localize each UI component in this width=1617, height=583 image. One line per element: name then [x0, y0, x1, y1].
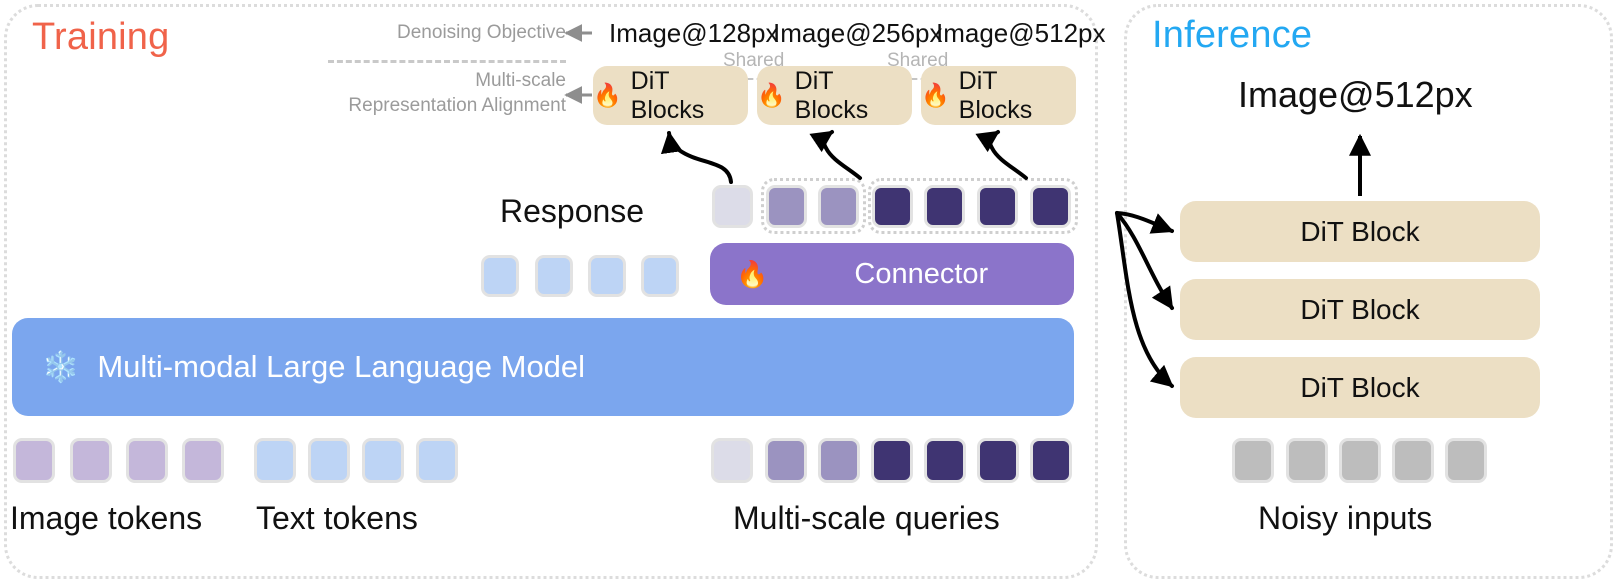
training-panel-title: Training: [32, 16, 169, 59]
query-token-7[interactable]: [1030, 438, 1072, 483]
noisy-token-1[interactable]: [1232, 438, 1274, 483]
notes-divider: [328, 60, 566, 63]
connector-label: Connector: [854, 258, 988, 291]
scale-label-128: Image@128px: [609, 18, 779, 49]
response-token-7[interactable]: [1030, 185, 1071, 228]
image-token-2[interactable]: [70, 438, 112, 483]
response-token-5[interactable]: [924, 185, 965, 228]
mllm-label: Multi-modal Large Language Model: [97, 349, 585, 385]
text-token-1[interactable]: [254, 438, 296, 483]
response-token-1[interactable]: [712, 185, 753, 228]
response-token-3[interactable]: [818, 185, 859, 228]
snowflake-emoji: ❄️: [42, 350, 79, 385]
query-token-5[interactable]: [924, 438, 966, 483]
dit-blocks-128-label: DiT Blocks: [631, 67, 748, 125]
dit-blocks-256-label: DiT Blocks: [795, 67, 912, 125]
noisy-token-4[interactable]: [1392, 438, 1434, 483]
representation-alignment-label: Representation Alignment: [326, 95, 566, 117]
inference-dit-block-2-label: DiT Block: [1300, 294, 1419, 326]
multi-scale-queries-caption: Multi-scale queries: [733, 500, 1000, 537]
denoising-objective-label: Denoising Objective: [386, 22, 566, 44]
scale-label-512: Image@512px: [936, 18, 1106, 49]
response-text-token-3[interactable]: [588, 255, 626, 297]
inference-dit-block-1[interactable]: DiT Block: [1180, 201, 1540, 262]
noisy-token-3[interactable]: [1339, 438, 1381, 483]
dit-blocks-512[interactable]: 🔥 DiT Blocks: [921, 66, 1076, 125]
connector-bar[interactable]: 🔥 Connector: [710, 243, 1074, 305]
inference-dit-block-2[interactable]: DiT Block: [1180, 279, 1540, 340]
response-text-token-2[interactable]: [535, 255, 573, 297]
query-token-1[interactable]: [711, 438, 753, 483]
text-token-3[interactable]: [362, 438, 404, 483]
image-token-3[interactable]: [126, 438, 168, 483]
inference-panel-title: Inference: [1152, 14, 1312, 57]
mllm-bar[interactable]: ❄️ Multi-modal Large Language Model: [12, 318, 1074, 416]
noisy-token-2[interactable]: [1286, 438, 1328, 483]
inference-output-label: Image@512px: [1238, 74, 1473, 116]
response-text-token-4[interactable]: [641, 255, 679, 297]
image-token-4[interactable]: [182, 438, 224, 483]
dit-blocks-256[interactable]: 🔥 DiT Blocks: [757, 66, 912, 125]
query-token-6[interactable]: [977, 438, 1019, 483]
response-token-2[interactable]: [766, 185, 807, 228]
scale-label-256: Image@256px: [773, 18, 943, 49]
response-token-4[interactable]: [872, 185, 913, 228]
response-token-6[interactable]: [977, 185, 1018, 228]
response-text-token-1[interactable]: [481, 255, 519, 297]
query-token-3[interactable]: [818, 438, 860, 483]
image-tokens-caption: Image tokens: [10, 500, 202, 537]
fire-emoji: 🔥: [757, 84, 786, 107]
inference-dit-block-3[interactable]: DiT Block: [1180, 357, 1540, 418]
query-token-4[interactable]: [871, 438, 913, 483]
text-token-2[interactable]: [308, 438, 350, 483]
noisy-inputs-caption: Noisy inputs: [1258, 500, 1432, 537]
noisy-token-5[interactable]: [1445, 438, 1487, 483]
inference-dit-block-1-label: DiT Block: [1300, 216, 1419, 248]
multi-scale-label: Multi-scale: [386, 70, 566, 92]
text-token-4[interactable]: [416, 438, 458, 483]
query-token-2[interactable]: [765, 438, 807, 483]
dit-blocks-512-label: DiT Blocks: [959, 67, 1076, 125]
fire-emoji: 🔥: [593, 84, 622, 107]
image-token-1[interactable]: [13, 438, 55, 483]
fire-emoji: 🔥: [736, 259, 768, 290]
fire-emoji: 🔥: [921, 84, 950, 107]
dit-blocks-128[interactable]: 🔥 DiT Blocks: [593, 66, 748, 125]
inference-dit-block-3-label: DiT Block: [1300, 372, 1419, 404]
diagram-canvas: Training Inference Denoising Objective M…: [0, 0, 1617, 583]
response-label: Response: [500, 193, 644, 230]
text-tokens-caption: Text tokens: [256, 500, 418, 537]
